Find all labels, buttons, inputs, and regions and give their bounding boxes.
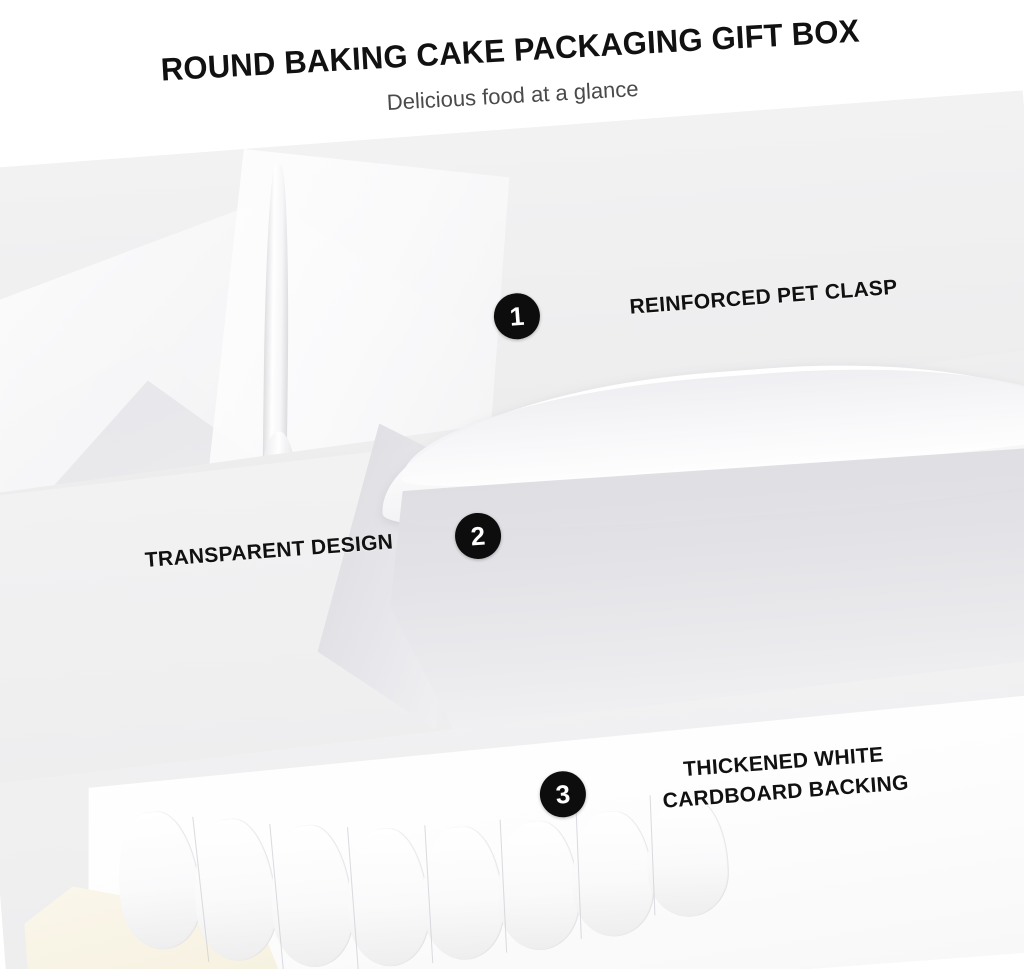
page-title: ROUND BAKING CAKE PACKAGING GIFT BOX: [11, 0, 1006, 94]
product-photo: [0, 90, 1024, 969]
product-photo-canvas: [0, 90, 1024, 969]
infographic-page: ROUND BAKING CAKE PACKAGING GIFT BOX Del…: [0, 0, 1024, 969]
callout-badge-2: 2: [453, 511, 502, 560]
callout-badge-3: 3: [538, 770, 587, 819]
callout-badge-1: 1: [492, 292, 541, 341]
